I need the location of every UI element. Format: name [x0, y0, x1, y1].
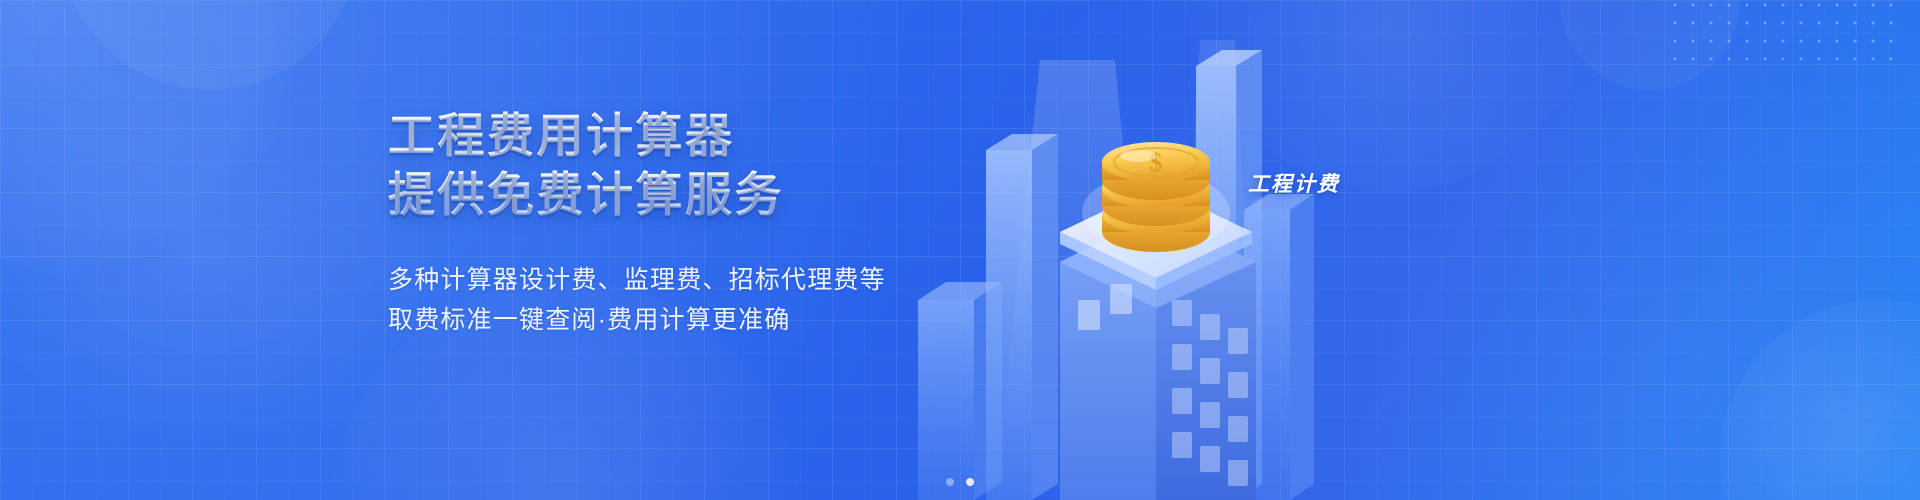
banner-subtext: 多种计算器设计费、监理费、招标代理费等 取费标准一键查阅·费用计算更准确 — [388, 260, 948, 340]
banner-copy: 工程费用计算器 提供免费计算服务 多种计算器设计费、监理费、招标代理费等 取费标… — [388, 108, 948, 340]
carousel-dot-1[interactable] — [946, 478, 954, 486]
carousel-dot-2[interactable] — [966, 478, 974, 486]
headline-line-2: 提供免费计算服务 — [388, 167, 948, 222]
subtext-line-2: 取费标准一键查阅·费用计算更准确 — [388, 300, 948, 340]
decorative-circle-5 — [1720, 300, 1920, 500]
headline-line-1: 工程费用计算器 — [388, 109, 735, 162]
banner-illustration: $ 工程计费 — [900, 0, 1320, 500]
decorative-circle-6 — [1560, 0, 1740, 90]
dot-matrix-decoration — [1666, 0, 1896, 60]
promo-banner: 工程费用计算器 提供免费计算服务 多种计算器设计费、监理费、招标代理费等 取费标… — [0, 0, 1920, 500]
subtext-line-1: 多种计算器设计费、监理费、招标代理费等 — [388, 260, 948, 300]
isometric-building-coin-illustration: $ — [900, 0, 1320, 500]
banner-headline: 工程费用计算器 提供免费计算服务 — [388, 108, 948, 222]
coin-stack: $ — [1102, 142, 1210, 252]
carousel-indicators[interactable] — [946, 478, 974, 486]
illustration-tag-label: 工程计费 — [1248, 168, 1340, 198]
